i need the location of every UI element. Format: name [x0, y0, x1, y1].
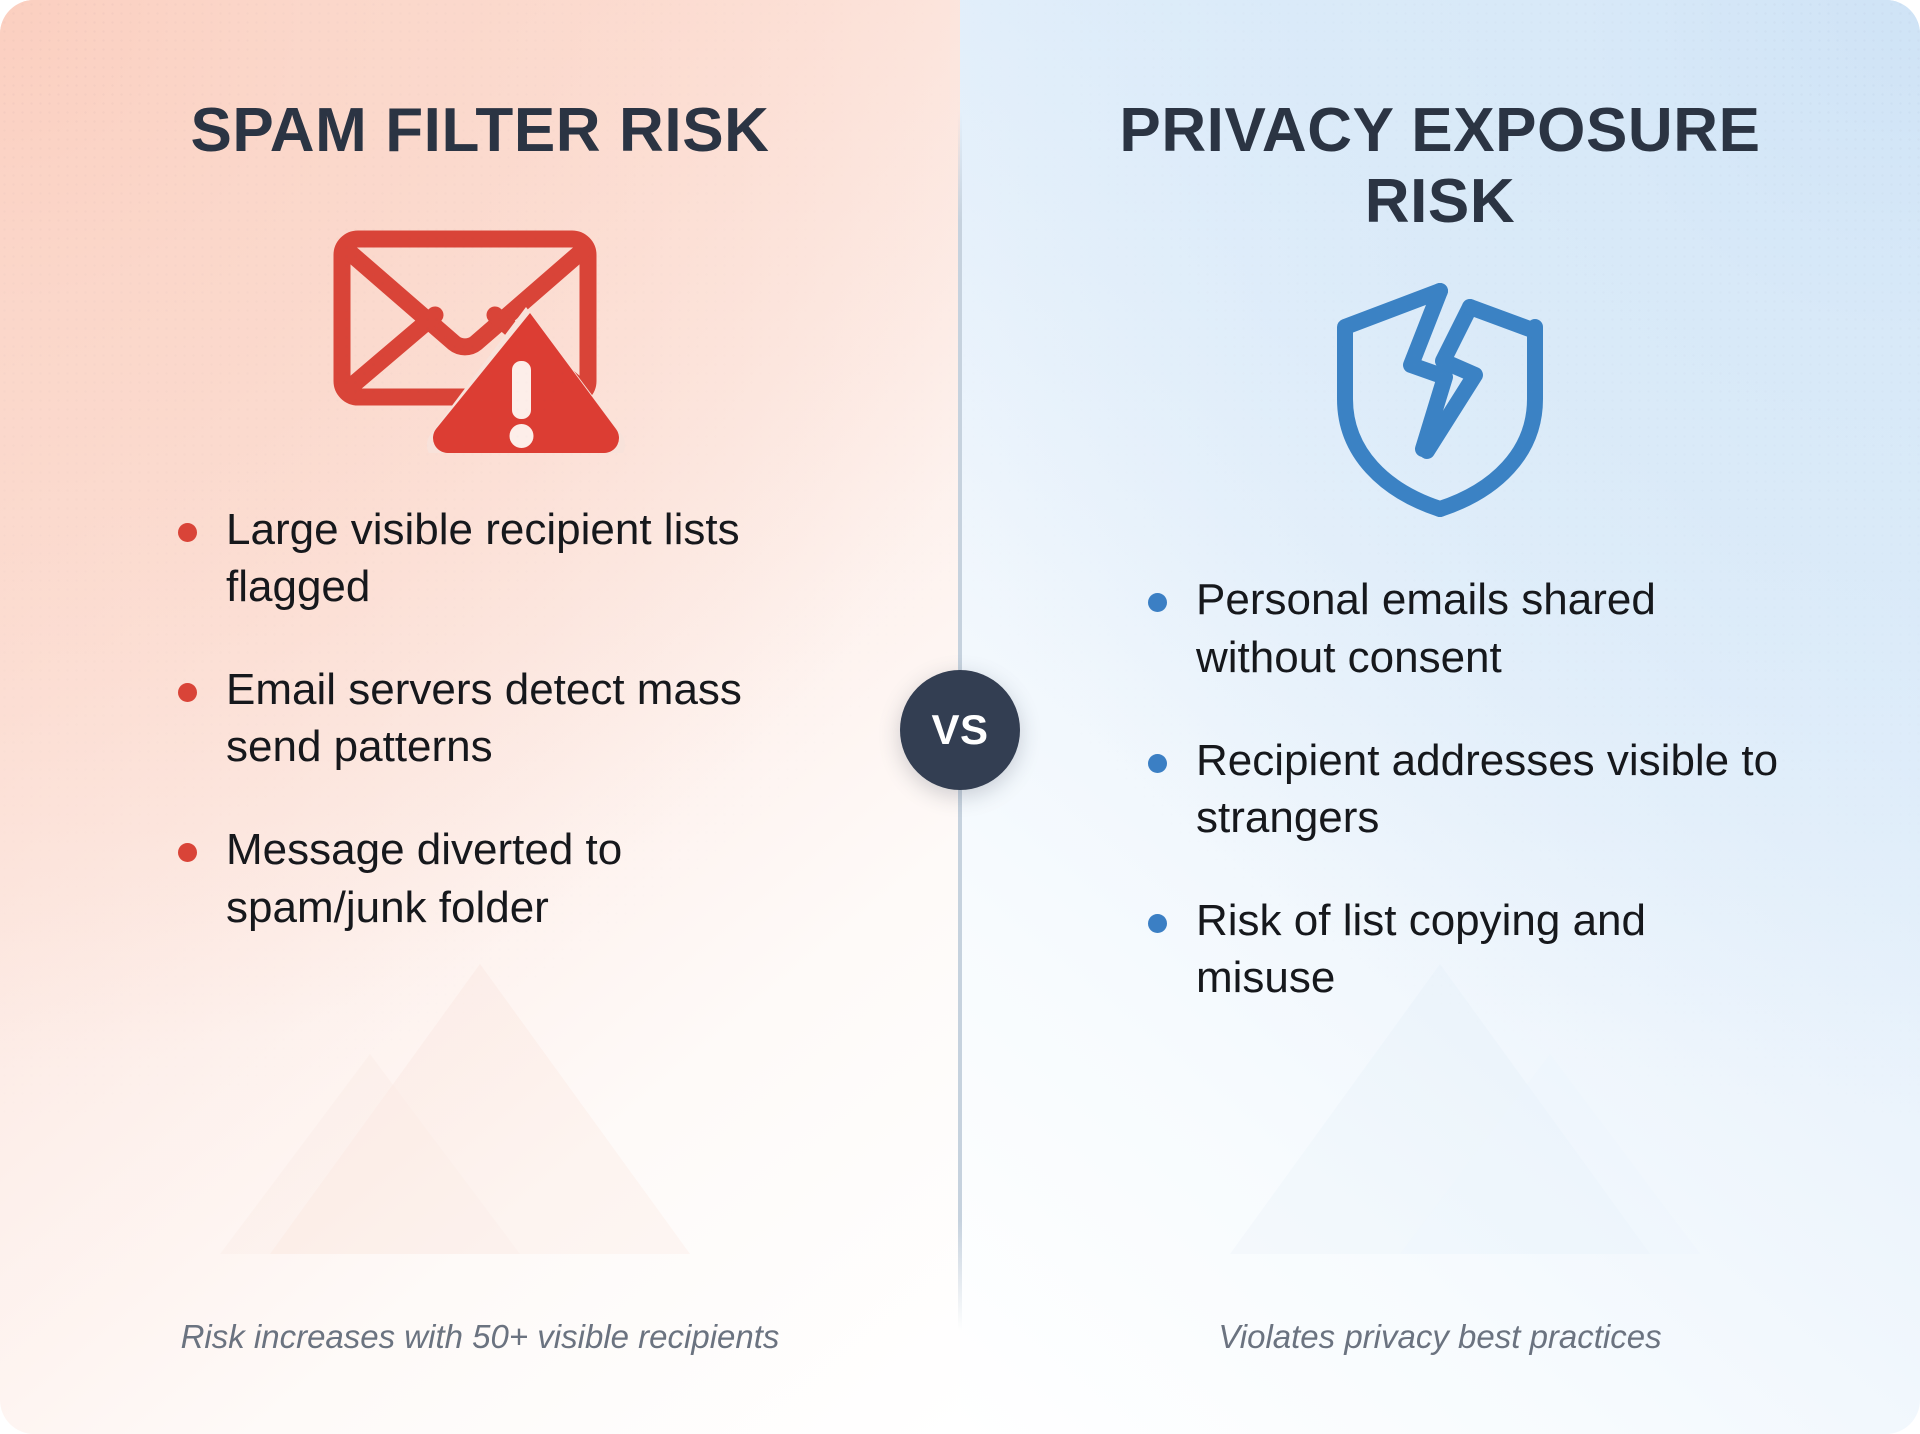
list-item-label: Message diverted to spam/junk folder: [226, 825, 622, 931]
list-item-label: Risk of list copying and misuse: [1196, 896, 1646, 1002]
watermark-shape-left: [220, 924, 740, 1284]
vs-badge: VS: [900, 670, 1020, 790]
list-item-label: Large visible recipient lists flagged: [226, 505, 740, 611]
vs-badge-label: VS: [931, 709, 988, 751]
bullet-dot-icon: [1148, 593, 1167, 612]
bullet-dot-icon: [178, 843, 197, 862]
icon-wrap-left: [330, 203, 630, 453]
footnote-right: Violates privacy best practices: [960, 1318, 1920, 1356]
list-item-label: Email servers detect mass send patterns: [226, 665, 742, 771]
list-item: Message diverted to spam/junk folder: [172, 821, 812, 935]
panel-spam-filter-risk: SPAM FILTER RISK Large visib: [0, 0, 960, 1434]
list-item: Recipient addresses visible to strangers: [1142, 732, 1782, 846]
icon-wrap-right: [1315, 273, 1565, 523]
list-item: Email servers detect mass send patterns: [172, 661, 812, 775]
list-item-label: Recipient addresses visible to strangers: [1196, 736, 1778, 842]
bullet-dot-icon: [1148, 914, 1167, 933]
list-item: Risk of list copying and misuse: [1142, 892, 1782, 1006]
list-item-label: Personal emails shared without consent: [1196, 575, 1656, 681]
panel-privacy-exposure-risk: PRIVACY EXPOSURE RISK Personal emails sh…: [960, 0, 1920, 1434]
comparison-infographic: SPAM FILTER RISK Large visib: [0, 0, 1920, 1434]
footnote-left: Risk increases with 50+ visible recipien…: [0, 1318, 960, 1356]
bullet-dot-icon: [178, 523, 197, 542]
bullet-list-left: Large visible recipient lists flagged Em…: [172, 501, 812, 936]
page-title-spam-filter-risk: SPAM FILTER RISK: [140, 0, 820, 167]
page-title-privacy-exposure-risk: PRIVACY EXPOSURE RISK: [1100, 0, 1780, 237]
list-item: Personal emails shared without consent: [1142, 571, 1782, 685]
bullet-dot-icon: [178, 683, 197, 702]
list-item: Large visible recipient lists flagged: [172, 501, 812, 615]
bullet-list-right: Personal emails shared without consent R…: [1142, 571, 1782, 1006]
envelope-warning-icon: [330, 203, 630, 453]
broken-shield-icon: [1315, 273, 1565, 523]
bullet-dot-icon: [1148, 754, 1167, 773]
